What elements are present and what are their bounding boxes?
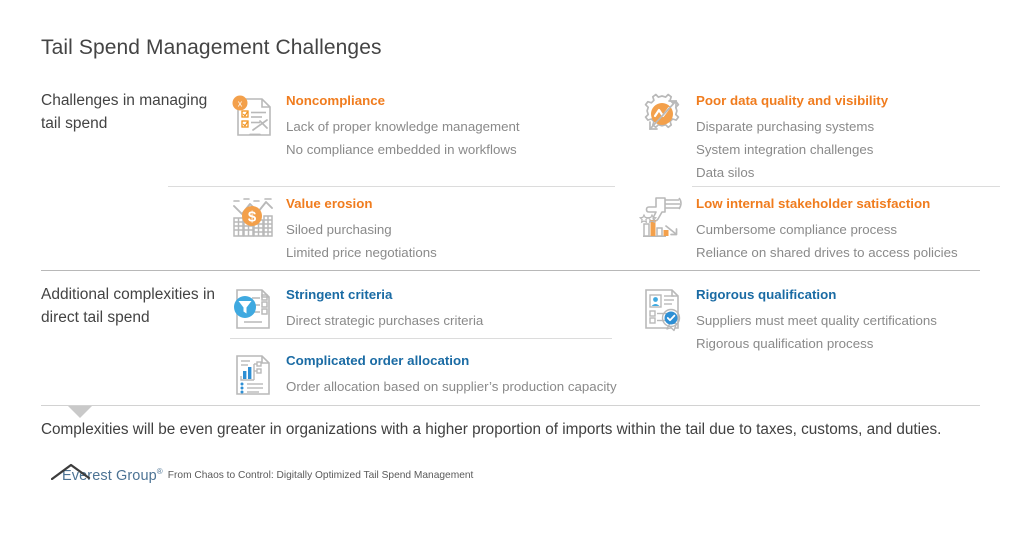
document-chart-list-icon (226, 349, 278, 401)
card-heading: Rigorous qualification (696, 286, 937, 303)
svg-text:x: x (238, 98, 243, 108)
card-rigorous-qualification: Rigorous qualification Suppliers must me… (636, 282, 937, 355)
page-title: Tail Spend Management Challenges (41, 36, 382, 60)
city-skyline-dollar-coin-icon: $ (226, 192, 278, 244)
card-heading: Noncompliance (286, 92, 520, 109)
everest-group-logo: Everest Group® (48, 464, 163, 484)
footer: Everest Group® From Chaos to Control: Di… (48, 464, 473, 484)
card-body: Complicated order allocation Order alloc… (286, 348, 617, 398)
card-bullet: Reliance on shared drives to access poli… (696, 241, 958, 264)
divider-right-row1 (692, 186, 1000, 187)
card-body: Rigorous qualification Suppliers must me… (696, 282, 937, 355)
card-bullet: Siloed purchasing (286, 218, 437, 241)
card-heading: Complicated order allocation (286, 352, 617, 369)
gear-chart-line-icon (636, 89, 688, 141)
section-label-additional-complexities: Additional complexities in direct tail s… (41, 283, 216, 329)
card-body: Stringent criteria Direct strategic purc… (286, 282, 483, 332)
divider-section (41, 270, 980, 271)
card-bullet: Suppliers must meet quality certificatio… (696, 309, 937, 332)
card-heading: Stringent criteria (286, 286, 483, 303)
document-funnel-filter-icon (226, 283, 278, 335)
registered-mark: ® (157, 467, 163, 476)
divider-left-row3 (230, 338, 612, 339)
divider-bottom (41, 405, 980, 406)
mountain-peak-icon (51, 463, 91, 480)
card-body: Low internal stakeholder satisfaction Cu… (696, 191, 958, 264)
bottom-statement: Complexities will be even greater in org… (41, 418, 971, 442)
card-heading: Poor data quality and visibility (696, 92, 888, 109)
card-heading: Value erosion (286, 195, 437, 212)
card-low-stakeholder-satisfaction: Low internal stakeholder satisfaction Cu… (636, 191, 958, 264)
card-complicated-order-allocation: Complicated order allocation Order alloc… (226, 348, 617, 401)
card-heading: Low internal stakeholder satisfaction (696, 195, 958, 212)
card-bullet: Order allocation based on supplier’s pro… (286, 375, 617, 398)
card-bullet: Lack of proper knowledge management (286, 115, 520, 138)
card-bullet: No compliance embedded in workflows (286, 138, 520, 161)
card-bullet: Rigorous qualification process (696, 332, 937, 355)
divider-left-row1 (168, 186, 615, 187)
thumbs-down-declining-bar-chart-icon (636, 192, 688, 244)
card-body: Noncompliance Lack of proper knowledge m… (286, 88, 520, 161)
id-document-certification-badge-icon (636, 283, 688, 335)
card-body: Poor data quality and visibility Dispara… (696, 88, 888, 184)
card-value-erosion: $ Value erosion Siloed purchasing Limite… (226, 191, 437, 264)
down-arrow-marker (68, 406, 92, 418)
card-bullet: Cumbersome compliance process (696, 218, 958, 241)
card-bullet: Data silos (696, 161, 888, 184)
card-bullet: Disparate purchasing systems (696, 115, 888, 138)
card-bullet: Direct strategic purchases criteria (286, 309, 483, 332)
card-poor-data-quality: Poor data quality and visibility Dispara… (636, 88, 888, 184)
svg-text:$: $ (248, 209, 257, 226)
section-label-challenges: Challenges in managing tail spend (41, 89, 216, 135)
card-stringent-criteria: Stringent criteria Direct strategic purc… (226, 282, 483, 335)
slide-root: Tail Spend Management Challenges Challen… (0, 0, 1022, 535)
card-body: Value erosion Siloed purchasing Limited … (286, 191, 437, 264)
card-bullet: Limited price negotiations (286, 241, 437, 264)
card-noncompliance: x Noncompliance Lack of proper knowledge… (226, 88, 520, 161)
card-bullet: System integration challenges (696, 138, 888, 161)
document-gavel-checklist-icon: x (226, 89, 278, 141)
footer-caption: From Chaos to Control: Digitally Optimiz… (168, 468, 474, 484)
